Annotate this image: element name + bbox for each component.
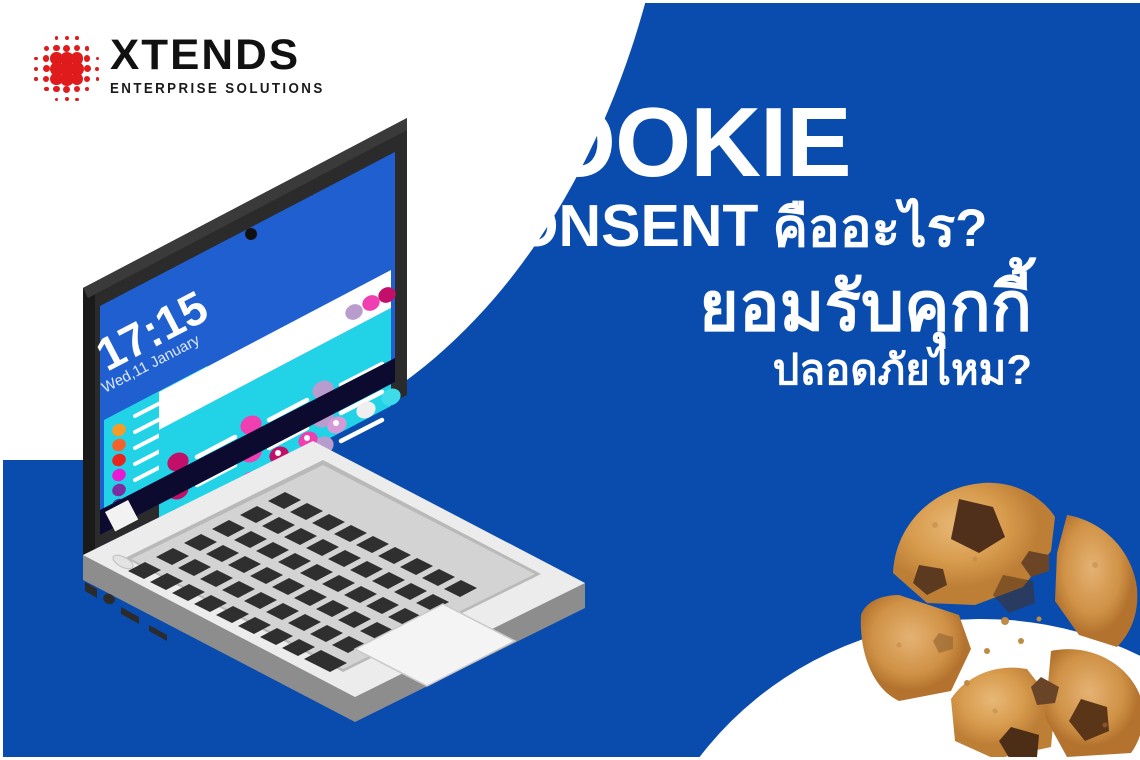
headline-consent-latin: CONSENT (470, 193, 758, 259)
headline-block: COOKIE CONSENTคืออะไร? ยอมรับคุกกี้ ปลอด… (470, 96, 1110, 393)
brand-logo: XTENDS ENTERPRISE SOLUTIONS (28, 30, 343, 100)
cookie-piece-left (861, 595, 971, 701)
cookie-photo (855, 455, 1140, 760)
headline-line-cookie: COOKIE (470, 96, 1110, 189)
frame-edge-left (0, 0, 3, 760)
headline-line-is-it-safe: ปลอดภัยไหม? (470, 347, 1110, 393)
headline-line-consent: CONSENTคืออะไร? (470, 197, 1110, 256)
brand-tagline: ENTERPRISE SOLUTIONS (110, 82, 325, 97)
headline-line-accept-cookies: ยอมรับคุกกี้ (470, 270, 1110, 345)
radial-dot-grid-icon (28, 30, 98, 100)
frame-edge-top (0, 0, 1140, 3)
brand-name: XTENDS (110, 34, 348, 77)
cookie-piece-top-right (1055, 515, 1137, 647)
headline-consent-thai: คืออะไร? (772, 199, 987, 258)
brand-logo-text: XTENDS ENTERPRISE SOLUTIONS (110, 34, 343, 97)
cookie-consent-banner: XTENDS ENTERPRISE SOLUTIONS 17:15 Wed,11… (0, 0, 1140, 760)
